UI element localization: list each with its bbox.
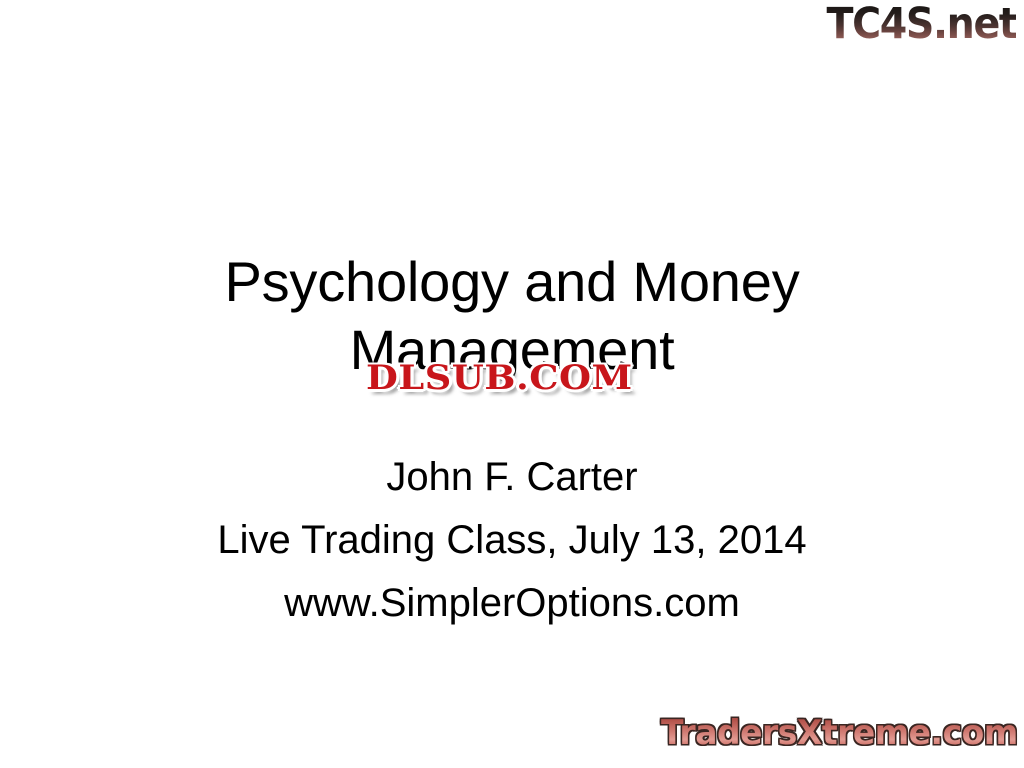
subtitle-line-website: www.SimplerOptions.com [112,572,912,635]
subtitle-line-class-date: Live Trading Class, July 13, 2014 [112,509,912,572]
subtitle-line-author: John F. Carter [112,446,912,509]
watermark-tc4s-net: TC4S.net [826,2,1016,47]
watermark-tradersxtreme-com: TradersXtreme.com TradersXtreme.com Trad… [661,715,1018,752]
watermark-tradersxtreme-fill: TradersXtreme.com [661,713,1018,753]
subtitle-block: John F. Carter Live Trading Class, July … [112,446,912,636]
presentation-slide: TC4S.net Psychology and Money Management… [0,0,1024,768]
watermark-dlsub-com: DLSUB.COM [366,359,633,398]
